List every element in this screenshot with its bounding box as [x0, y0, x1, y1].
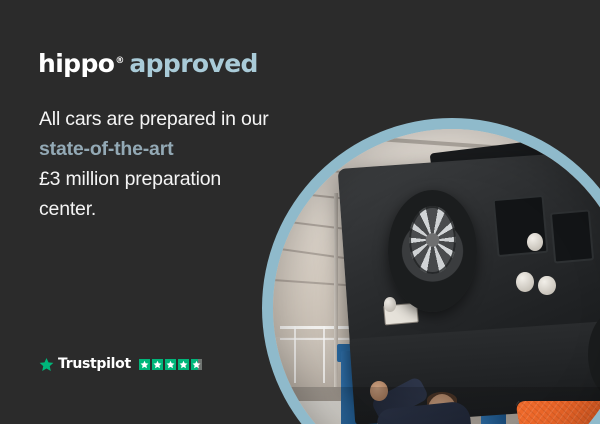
trustpilot-star-icon	[39, 357, 54, 372]
logo-product-text: approved	[129, 49, 258, 78]
registered-trademark-icon: ®	[115, 56, 124, 66]
tail-light	[538, 276, 556, 296]
rating-star-box	[139, 359, 150, 370]
trustpilot-star-boxes	[139, 359, 202, 370]
railing-post	[294, 326, 296, 383]
rating-star-box	[178, 359, 189, 370]
hippo-approved-logo[interactable]: hippo ® approved	[38, 49, 258, 78]
logo-brand-text: hippo	[38, 49, 114, 78]
orange-barrier	[515, 401, 600, 424]
rating-star-box-partial	[191, 359, 202, 370]
rating-star-box	[152, 359, 163, 370]
workshop-scene	[273, 129, 600, 424]
workshop-photo	[273, 129, 600, 424]
railing-post	[323, 326, 325, 383]
headline-line-4: center.	[39, 194, 291, 224]
headline-line-1: All cars are prepared in our	[39, 104, 291, 134]
headline-accent: state-of-the-art	[39, 134, 291, 164]
workshop-photo-circle	[262, 118, 600, 424]
tail-light	[527, 233, 543, 251]
headline-line-3: £3 million preparation	[39, 164, 291, 194]
trustpilot-wordmark: Trustpilot	[58, 356, 131, 372]
trustpilot-rating[interactable]: Trustpilot	[39, 356, 202, 372]
side-window	[550, 210, 594, 264]
barrier-texture	[515, 401, 600, 424]
rating-star-box	[165, 359, 176, 370]
headline: All cars are prepared in our state-of-th…	[39, 104, 291, 224]
hippo-approved-ad-banner: hippo ® approved All cars are prepared i…	[0, 0, 600, 424]
tail-light	[384, 297, 397, 311]
spare-wheel-rim	[409, 206, 456, 274]
